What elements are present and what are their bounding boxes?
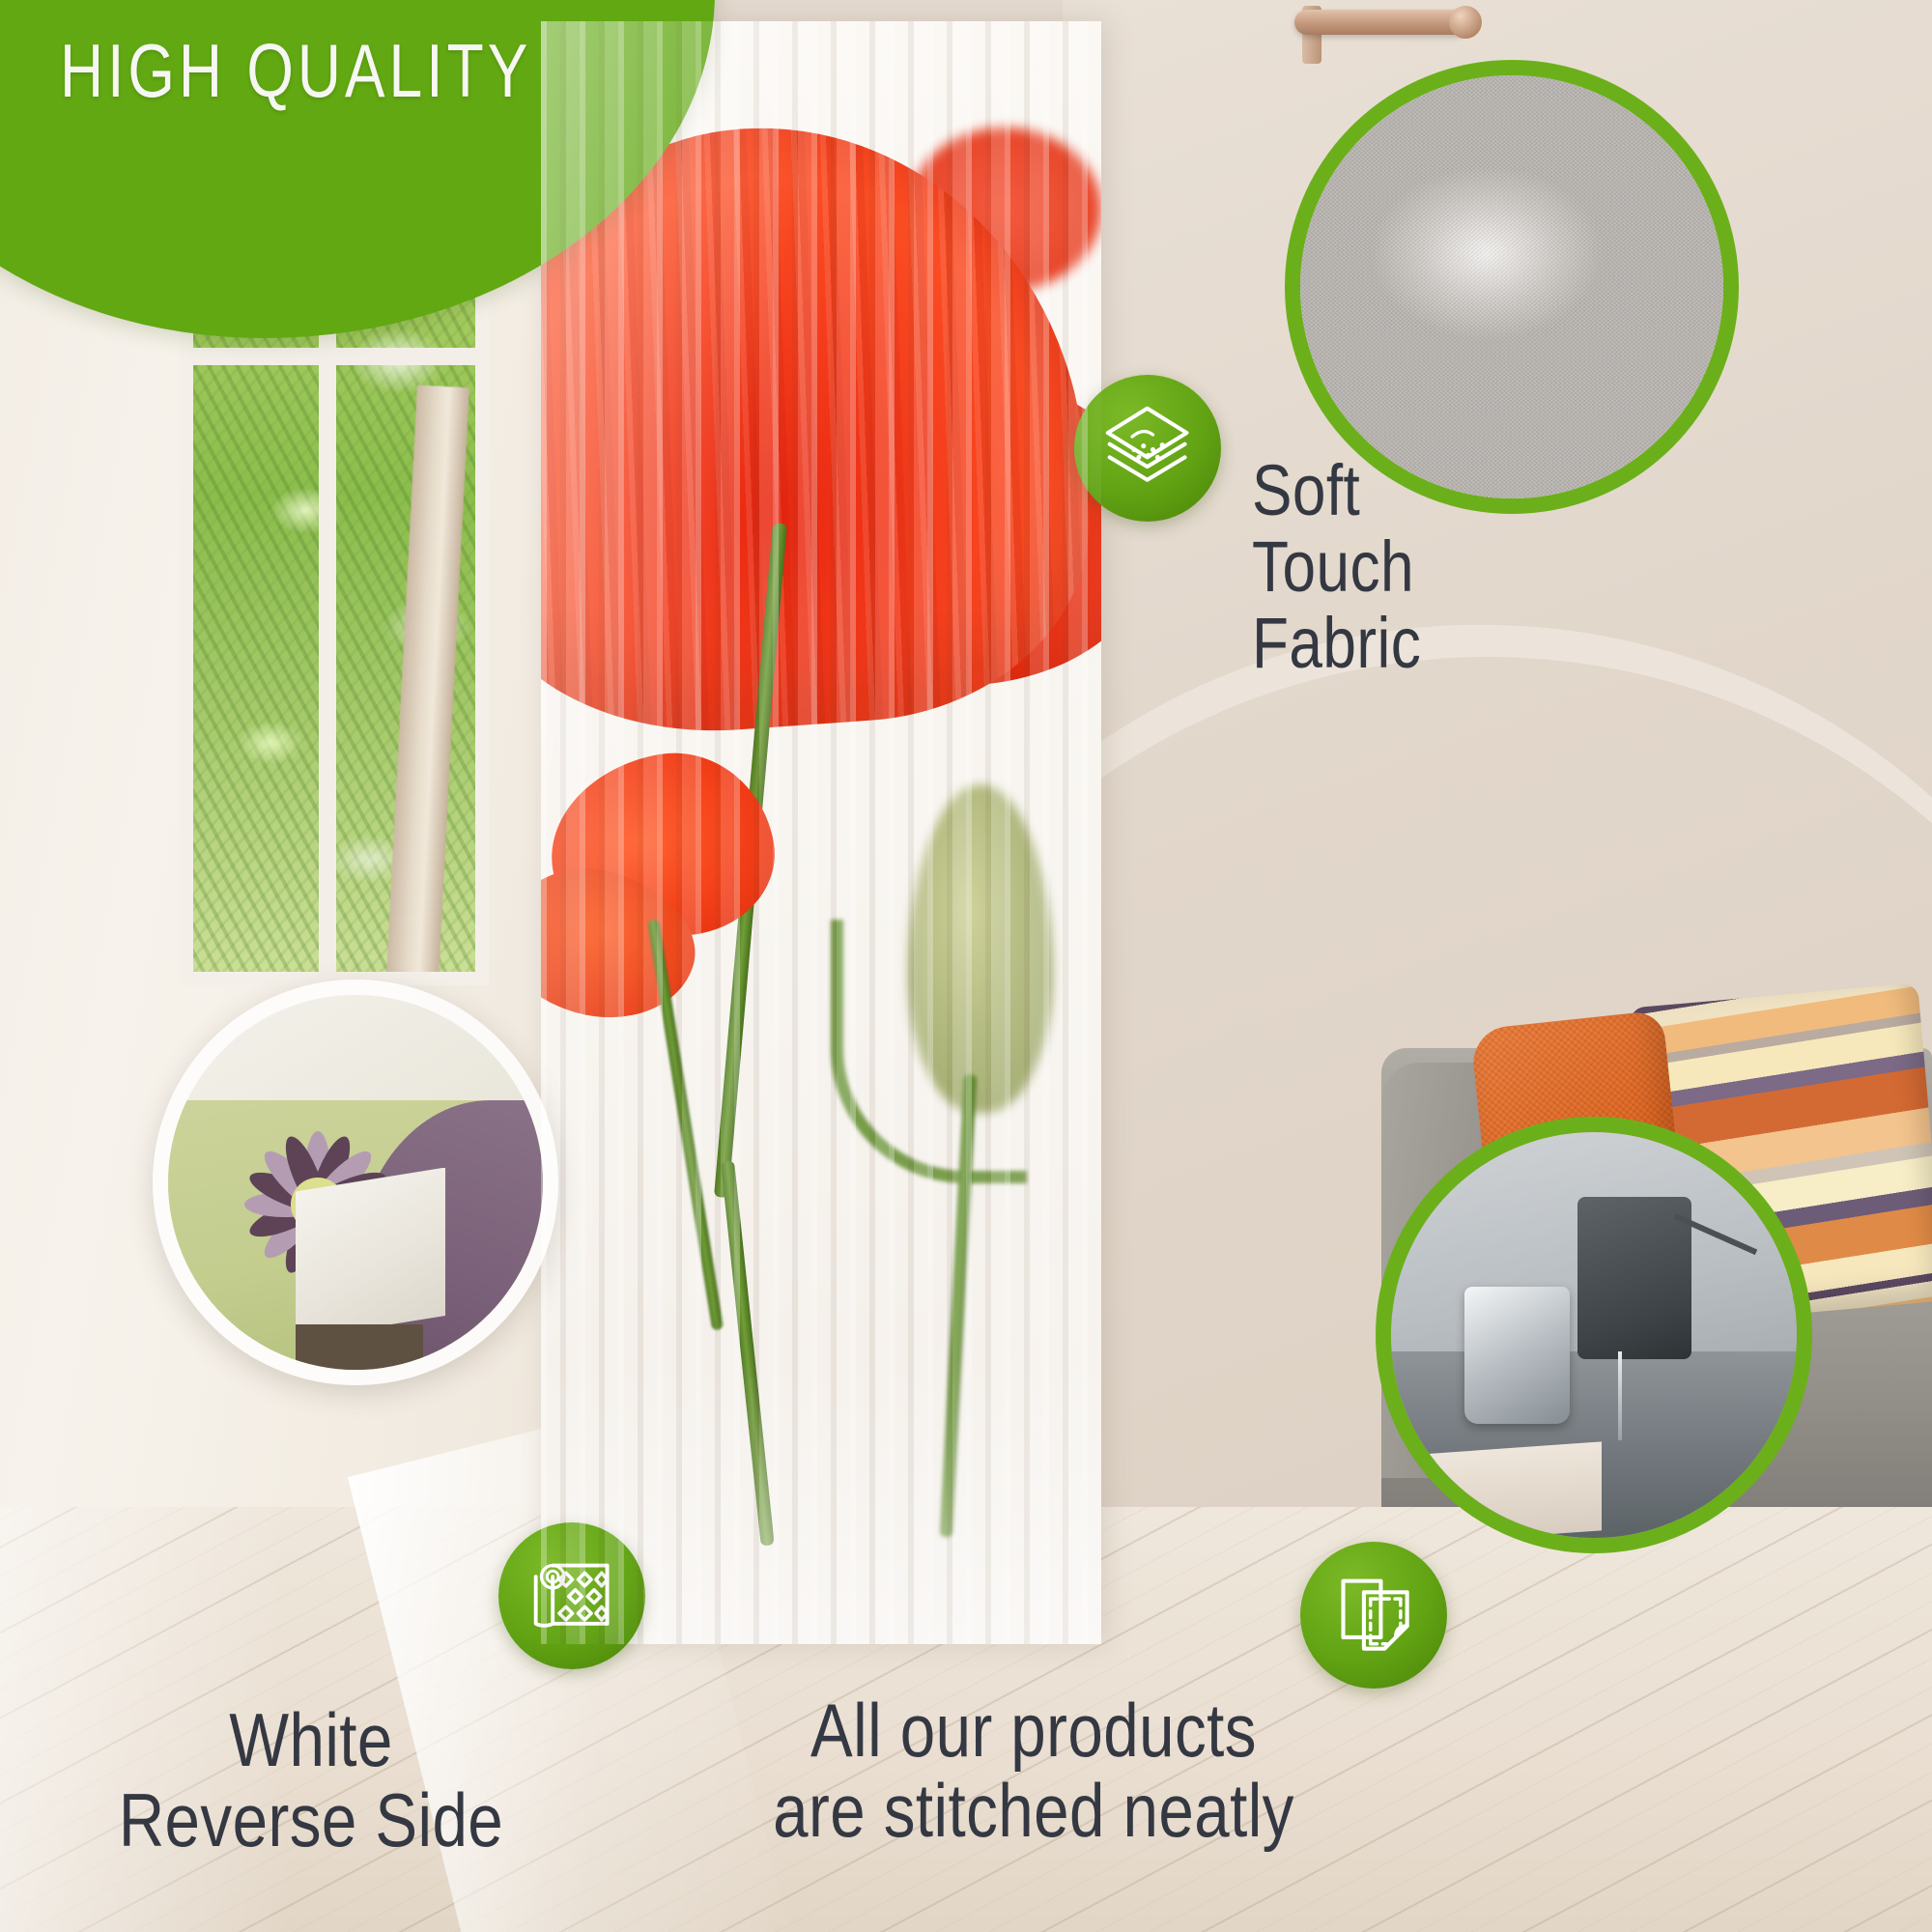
poppy-print-artwork (541, 21, 1101, 1644)
tree-trunk (379, 385, 469, 976)
white-reverse-fold (296, 1168, 445, 1340)
sewing-machine-detail (1391, 1132, 1797, 1538)
white-reverse-label: White Reverse Side (100, 1700, 523, 1861)
printed-curtain-panel (541, 21, 1101, 1644)
soft-touch-label: Soft Touch Fabric (1252, 452, 1421, 682)
curtain-rod (1294, 10, 1468, 35)
fabric-under-needle (1391, 1441, 1602, 1546)
presser-foot (1464, 1287, 1570, 1425)
product-feature-graphic: Soft Touch Fabric (0, 0, 1932, 1932)
sewing-needle (1618, 1351, 1622, 1440)
white-reverse-label-line2: Reverse Side (100, 1780, 523, 1861)
poppy-bud (908, 784, 1053, 1113)
soft-touch-label-line1: Soft Touch (1252, 452, 1421, 605)
stitched-neatly-label: All our products are stitched neatly (725, 1690, 1342, 1852)
grey-fabric-swirl (1300, 75, 1723, 498)
high-quality-badge-text: HIGH QUALITY (60, 27, 531, 115)
soft-touch-label-line2: Fabric (1252, 605, 1421, 681)
stitched-panels-icon (1300, 1542, 1447, 1689)
fabric-swatch-photo (1285, 60, 1739, 514)
stitched-neatly-label-line2: are stitched neatly (725, 1771, 1342, 1851)
machine-head (1577, 1197, 1691, 1359)
white-reverse-label-line1: White (100, 1700, 523, 1780)
printed-fabric-sample (168, 995, 543, 1370)
fold-shadow (296, 1324, 423, 1370)
sewing-machine-photo (1376, 1117, 1812, 1553)
fabric-roll-icon (498, 1522, 645, 1669)
fabric-layers-icon (1074, 375, 1221, 522)
window-muntin-horizontal (189, 348, 479, 365)
reverse-side-photo (153, 980, 558, 1385)
stitched-neatly-label-line1: All our products (725, 1690, 1342, 1771)
